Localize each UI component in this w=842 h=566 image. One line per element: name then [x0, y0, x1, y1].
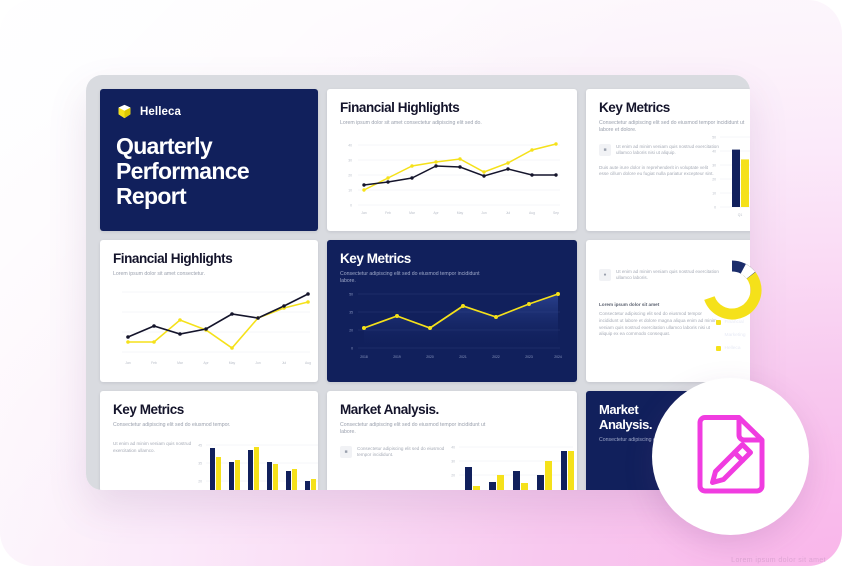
svg-text:50: 50 [712, 136, 716, 140]
background-watermark: Lorem ipsum dolor sit amet [731, 557, 826, 564]
svg-text:Jan: Jan [361, 211, 367, 215]
cube-icon [116, 103, 133, 120]
chart-financial-highlights-top: 40 30 20 10 0 [340, 137, 564, 217]
svg-text:20: 20 [198, 480, 202, 484]
svg-text:0: 0 [714, 206, 716, 210]
slide-key-metrics-bottom[interactable]: Key Metrics Consectetur adipiscing elit … [100, 391, 318, 490]
slide-market-analysis-bottom[interactable]: Market Analysis. Consectetur adipiscing … [327, 391, 577, 490]
svg-text:Jul: Jul [506, 211, 511, 215]
slide-subtitle: Consectetur adipiscing elit sed do eiusm… [113, 422, 263, 429]
svg-text:20: 20 [349, 329, 353, 333]
slide-key-metrics-mid[interactable]: Key Metrics Consectetur adipiscing elit … [327, 240, 577, 382]
slide-grid: Helleca Quarterly Performance Report Fin… [100, 89, 750, 490]
svg-text:Aug: Aug [305, 361, 311, 365]
svg-text:2023: 2023 [525, 355, 533, 359]
note-text: Consectetur adipiscing elit sed do eiusm… [357, 446, 458, 459]
svg-text:Feb: Feb [385, 211, 391, 215]
svg-text:20: 20 [348, 174, 352, 178]
svg-text:0: 0 [351, 347, 353, 351]
key-metrics-bottom-body: Key Metrics Consectetur adipiscing elit … [100, 391, 318, 490]
svg-text:May: May [229, 361, 236, 365]
note-block: ■ Ut enim ad minim veniam quis nostrud e… [599, 144, 719, 157]
page-title: Market Analysis. [340, 402, 564, 417]
legend-label: Marketing [725, 331, 746, 340]
svg-text:50: 50 [349, 293, 353, 297]
svg-text:2024: 2024 [554, 355, 562, 359]
svg-text:20: 20 [712, 178, 716, 182]
key-metrics-mid-body: Key Metrics Consectetur adipiscing elit … [327, 240, 577, 382]
financial-highlights-top-body: Financial Highlights Lorem ipsum dolor s… [327, 89, 577, 231]
doc-icon: ■ [599, 144, 611, 156]
svg-text:10: 10 [348, 189, 352, 193]
legend-item: Helleca [716, 344, 746, 353]
page-title: Key Metrics [340, 251, 564, 266]
legend-label: Financial [725, 318, 744, 327]
svg-text:Jan: Jan [125, 361, 131, 365]
svg-text:2018: 2018 [360, 355, 368, 359]
market-analysis-bottom-body: Market Analysis. Consectetur adipiscing … [327, 391, 577, 490]
slide-financial-highlights-mid[interactable]: Financial Highlights Lorem ipsum dolor s… [100, 240, 318, 382]
title-line-2: Performance [116, 159, 302, 184]
slide-canvas: Helleca Quarterly Performance Report Fin… [86, 75, 750, 490]
chart-key-metrics-top: 50 40 30 20 10 0 [706, 131, 750, 223]
title-line-1: Quarterly [116, 134, 302, 159]
svg-text:Jun: Jun [481, 211, 487, 215]
note-block: ■ Consectetur adipiscing elit sed do eiu… [340, 446, 458, 459]
svg-text:Mar: Mar [409, 211, 416, 215]
svg-text:2020: 2020 [426, 355, 434, 359]
svg-text:35: 35 [349, 311, 353, 315]
legend-item: Financial [716, 318, 746, 327]
bulb-icon: ● [599, 269, 611, 281]
svg-text:30: 30 [348, 159, 352, 163]
svg-text:May: May [457, 211, 464, 215]
legend-swatch [716, 333, 721, 338]
svg-text:2019: 2019 [393, 355, 401, 359]
legend-swatch [716, 346, 721, 351]
svg-text:Apr: Apr [203, 361, 209, 365]
page-title: Financial Highlights [113, 251, 305, 266]
slide-subtitle: Lorem ipsum dolor sit amet consectetur. [113, 271, 263, 278]
financial-highlights-mid-body: Financial Highlights Lorem ipsum dolor s… [100, 240, 318, 382]
chart-financial-highlights-mid: JanFeb MarApr MayJun JulAug [108, 284, 314, 368]
slide-subtitle: Consectetur adipiscing elit sed do eiusm… [340, 422, 490, 437]
document-edit-icon [692, 415, 770, 499]
svg-text:Jun: Jun [255, 361, 261, 365]
svg-text:Mar: Mar [177, 361, 184, 365]
title-line-3: Report [116, 184, 302, 209]
key-metrics-top-body: Key Metrics Consectetur adipiscing elit … [586, 89, 750, 231]
svg-text:40: 40 [712, 150, 716, 154]
chart-key-metrics-bottom: 45 35 20 [192, 435, 318, 490]
svg-text:30: 30 [712, 164, 716, 168]
body-text: Duis aute irure dolor in reprehenderit i… [599, 165, 717, 178]
svg-text:35: 35 [198, 462, 202, 466]
chart-market-analysis-bottom: 40 30 20 [445, 439, 575, 490]
note-text: Ut enim ad minim veniam quis nostrud exe… [616, 144, 719, 157]
slide-key-metrics-top[interactable]: Key Metrics Consectetur adipiscing elit … [586, 89, 750, 231]
legend-label: Helleca [725, 344, 741, 353]
page-title: Financial Highlights [340, 100, 564, 115]
legend-swatch [716, 320, 721, 325]
svg-text:Jul: Jul [282, 361, 287, 365]
svg-text:Sep: Sep [553, 211, 559, 215]
page-title: Key Metrics [113, 402, 305, 417]
svg-text:20: 20 [451, 474, 455, 478]
svg-text:Q1: Q1 [738, 213, 743, 217]
svg-text:30: 30 [451, 460, 455, 464]
screenshot-root: Lorem ipsum dolor sit amet [0, 0, 842, 566]
brand-name: Helleca [140, 106, 181, 118]
svg-text:Feb: Feb [151, 361, 157, 365]
brand-logo: Helleca [116, 103, 302, 120]
presentation-window: Helleca Quarterly Performance Report Fin… [86, 75, 750, 490]
svg-text:Apr: Apr [433, 211, 439, 215]
slide-subtitle: Lorem ipsum dolor sit amet consectetur a… [340, 120, 490, 127]
svg-text:40: 40 [451, 446, 455, 450]
slide-title-slide[interactable]: Helleca Quarterly Performance Report [100, 89, 318, 231]
donut-legend: Financial Marketing Helleca [716, 318, 746, 357]
svg-text:2022: 2022 [492, 355, 500, 359]
chart-key-metrics-mid: 50 35 20 0 [340, 286, 564, 368]
legend-item: Marketing [716, 331, 746, 340]
svg-text:0: 0 [350, 204, 352, 208]
slide-financial-highlights-top[interactable]: Financial Highlights Lorem ipsum dolor s… [327, 89, 577, 231]
doc-icon: ■ [340, 446, 352, 458]
page-title: Key Metrics [599, 100, 750, 115]
title-slide-heading: Quarterly Performance Report [116, 134, 302, 209]
svg-text:Aug: Aug [529, 211, 535, 215]
edit-badge[interactable] [652, 378, 809, 535]
title-slide-body: Helleca Quarterly Performance Report [100, 89, 318, 223]
svg-text:2021: 2021 [459, 355, 467, 359]
slide-subtitle: Consectetur adipiscing elit sed do eiusm… [340, 271, 490, 286]
svg-text:45: 45 [198, 444, 202, 448]
svg-text:10: 10 [712, 192, 716, 196]
chart-donut [697, 255, 767, 325]
svg-text:40: 40 [348, 144, 352, 148]
